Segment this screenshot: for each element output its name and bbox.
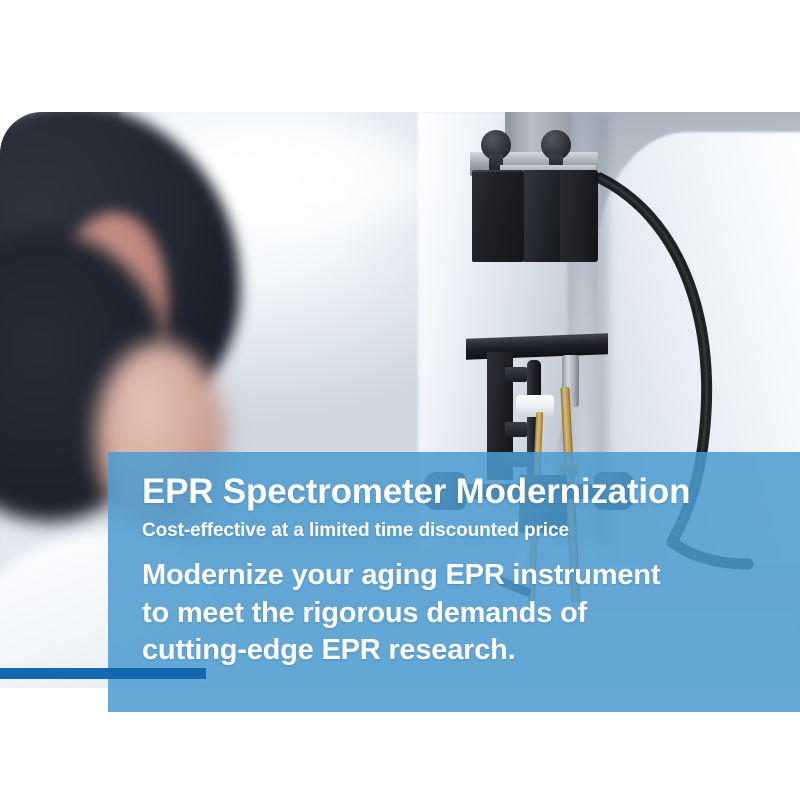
page-title: EPR Spectrometer Modernization [142,472,782,511]
promo-subtitle: Cost-effective at a limited time discoun… [142,520,782,543]
promo-text-block: EPR Spectrometer Modernization Cost-effe… [142,472,782,670]
promo-body-line-3: cutting-edge EPR research. [142,632,782,670]
promo-body: Modernize your aging EPR instrument to m… [142,557,782,670]
promo-body-line-1: Modernize your aging EPR instrument [142,557,782,595]
promo-body-line-2: to meet the rigorous demands of [142,595,782,633]
promo-banner: EPR Spectrometer Modernization Cost-effe… [0,0,800,800]
